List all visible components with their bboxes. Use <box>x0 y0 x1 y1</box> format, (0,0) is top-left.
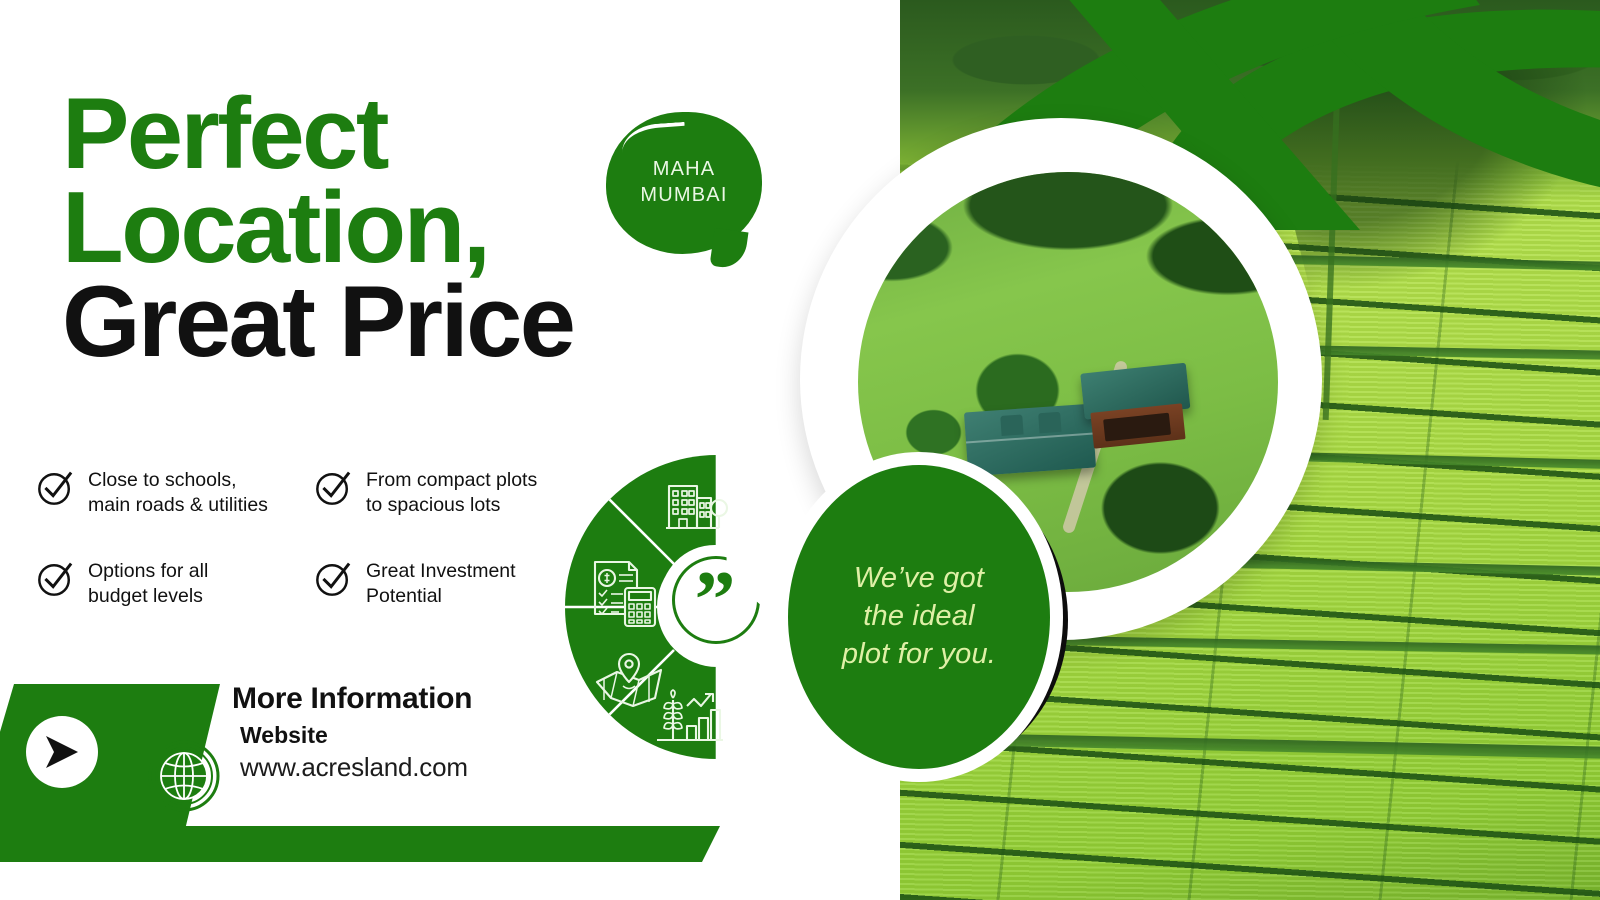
website-label: Website <box>240 722 328 749</box>
quote-mark-icon: ” <box>660 545 770 655</box>
feature-line-2: Potential <box>366 584 516 609</box>
play-button[interactable] <box>26 716 98 788</box>
play-arrow-icon <box>42 734 82 770</box>
feature-line-2: budget levels <box>88 584 208 609</box>
location-line-2: MUMBAI <box>640 183 727 209</box>
location-line-1: MAHA <box>653 157 716 183</box>
feature-item: Close to schools, main roads & utilities <box>36 468 314 519</box>
feature-line-2: main roads & utilities <box>88 493 268 518</box>
website-url[interactable]: www.acresland.com <box>240 752 468 783</box>
house-gable <box>1038 412 1061 433</box>
feature-line-2: to spacious lots <box>366 493 537 518</box>
quote-line-1: We’ve got <box>842 560 996 598</box>
feature-text: Great Investment Potential <box>366 559 516 610</box>
poster-canvas: We’ve got the ideal plot for you. ” Perf… <box>0 0 1600 900</box>
check-circle-icon <box>314 469 352 507</box>
more-information-heading: More Information <box>232 682 472 716</box>
location-badge: MAHA MUMBAI <box>606 112 762 254</box>
check-circle-icon <box>314 560 352 598</box>
quote-line-3: plot for you. <box>842 636 996 674</box>
feature-list: Close to schools, main roads & utilities… <box>36 468 596 609</box>
house-gable <box>1000 414 1023 435</box>
footer-bottom-bar <box>0 826 720 862</box>
house-building <box>964 404 1096 477</box>
feature-line-1: From compact plots <box>366 468 537 493</box>
house-roof <box>964 404 1096 477</box>
check-circle-icon <box>36 560 74 598</box>
feature-text: Close to schools, main roads & utilities <box>88 468 268 519</box>
feature-line-1: Great Investment <box>366 559 516 584</box>
quote-badge: We’ve got the ideal plot for you. <box>788 465 1050 769</box>
quote-line-2: the ideal <box>842 598 996 636</box>
globe-icon <box>148 740 220 812</box>
feature-line-1: Options for all <box>88 559 208 584</box>
feature-text: Options for all budget levels <box>88 559 208 610</box>
location-badge-text: MAHA MUMBAI <box>606 112 762 254</box>
barn-building <box>1080 363 1194 452</box>
feature-item: From compact plots to spacious lots <box>314 468 592 519</box>
feature-item: Options for all budget levels <box>36 559 314 610</box>
feature-item: Great Investment Potential <box>314 559 592 610</box>
feature-text: From compact plots to spacious lots <box>366 468 537 519</box>
check-circle-icon <box>36 469 74 507</box>
feature-line-1: Close to schools, <box>88 468 268 493</box>
headline-line-3: Great Price <box>62 276 762 370</box>
quote-text-block: We’ve got the ideal plot for you. <box>816 560 1022 673</box>
